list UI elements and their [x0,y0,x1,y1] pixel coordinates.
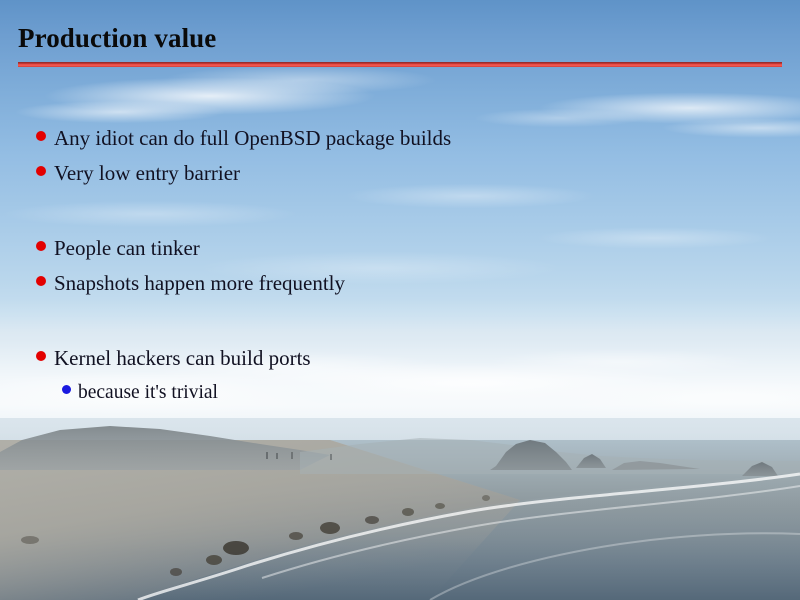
bullet-item: Snapshots happen more frequently [0,273,800,308]
sea-and-shore [0,440,800,600]
bullet-text: Any idiot can do full OpenBSD package bu… [54,128,451,149]
left-headland [0,426,330,470]
foam-line [262,486,800,578]
kelp-clump [289,532,303,540]
bullet-item: People can tinker [0,238,800,273]
kelp-clump [223,541,249,555]
kelp-clump [170,568,182,576]
surf-zone [140,470,800,600]
blue-dot-bullet-icon [62,385,71,394]
page-title: Production value [18,24,782,52]
rock-stack-small [576,454,606,468]
bullet-item: Very low entry barrier [0,163,800,198]
beach-figure [266,452,268,459]
sand-beach [0,440,800,600]
kelp-clump [206,555,222,565]
bullet-item: Kernel hackers can build ports [0,348,800,383]
bullet-text: Snapshots happen more frequently [54,273,345,294]
red-dot-bullet-icon [36,351,46,361]
bullet-list: Any idiot can do full OpenBSD package bu… [0,128,800,418]
beach-figure [276,453,278,459]
title-block: Production value [18,24,782,52]
kelp-clump [365,516,379,524]
kelp-clump [482,495,490,501]
foam-line [138,474,800,600]
bullet-item: because it's trivial [0,383,800,418]
bullet-text: Very low entry barrier [54,163,240,184]
beach-figure [330,454,332,460]
foam-line [430,533,800,600]
red-dot-bullet-icon [36,131,46,141]
bullet-group: Kernel hackers can build portsbecause it… [0,348,800,418]
rock-stack-large [490,440,572,470]
bullet-text: Kernel hackers can build ports [54,348,311,369]
offshore-rock [742,462,778,476]
horizon-haze [0,418,800,464]
red-dot-bullet-icon [36,241,46,251]
kelp-clump [435,503,445,509]
presentation-slide: Production value Any idiot can do full O… [0,0,800,600]
bullet-text: because it's trivial [78,383,218,403]
bullet-text: People can tinker [54,238,200,259]
kelp-clump [402,508,414,516]
bullet-item: Any idiot can do full OpenBSD package bu… [0,128,800,163]
kelp-clump [320,522,340,534]
bullet-group: People can tinkerSnapshots happen more f… [0,238,800,308]
kelp-clump [21,536,39,544]
red-dot-bullet-icon [36,166,46,176]
bullet-group: Any idiot can do full OpenBSD package bu… [0,128,800,198]
low-rock-ridge [612,461,700,470]
beach-figure [291,452,293,459]
title-underline-rule [18,62,782,67]
red-dot-bullet-icon [36,276,46,286]
distant-hills [300,438,800,474]
